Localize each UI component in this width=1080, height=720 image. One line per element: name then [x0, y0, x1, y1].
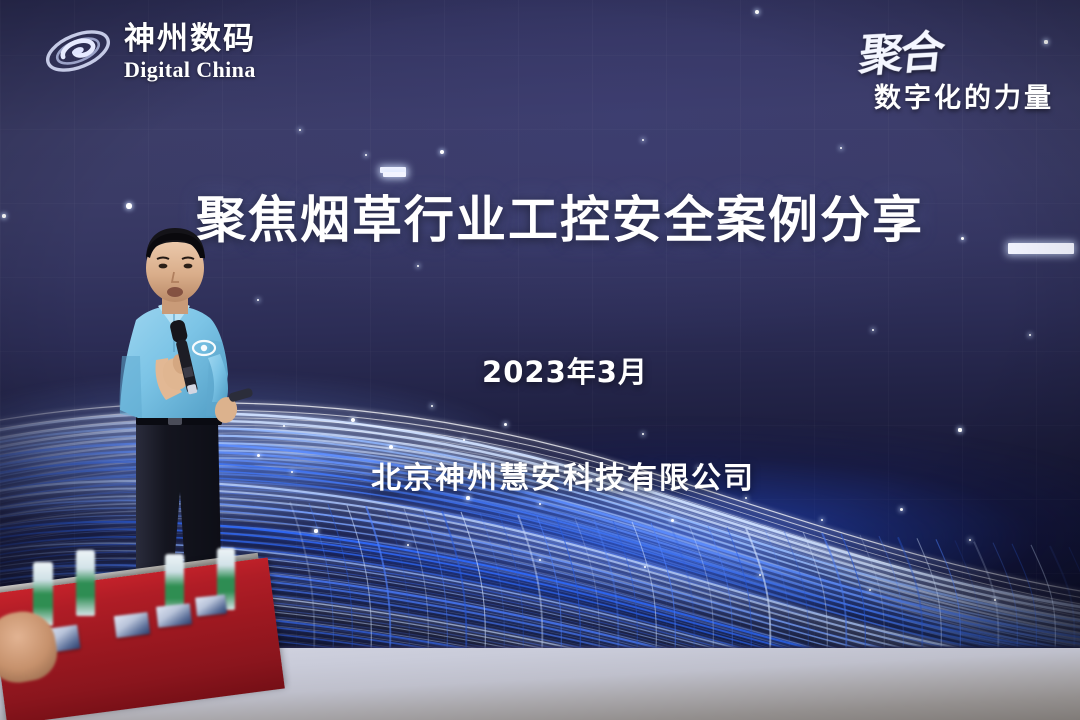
light-particle	[389, 445, 393, 449]
bar-light	[383, 172, 406, 177]
light-particle	[314, 529, 317, 532]
water-bottle	[76, 550, 95, 616]
light-particle	[351, 418, 355, 422]
stage-photo-scene: 神州数码 Digital China 聚合 数字化的力量 聚焦烟草行业工控安全案…	[0, 0, 1080, 720]
light-particle	[440, 150, 444, 154]
light-particle	[671, 519, 674, 522]
clicker-icon	[228, 387, 254, 402]
light-particle	[958, 428, 961, 431]
brand-name-en: Digital China	[124, 59, 256, 81]
light-particle	[900, 508, 903, 511]
name-card	[156, 603, 192, 627]
event-theme-logo: 聚合 数字化的力量	[860, 18, 1054, 115]
light-particle	[504, 423, 507, 426]
spiral-galaxy-logo-icon	[42, 20, 114, 82]
theme-calligraphy: 聚合	[856, 16, 945, 84]
digital-china-wordmark: 神州数码 Digital China	[124, 21, 256, 81]
brand-name-cn: 神州数码	[124, 24, 256, 55]
digital-china-logo: 神州数码 Digital China	[42, 20, 256, 82]
name-card	[114, 612, 150, 638]
name-card	[195, 594, 227, 616]
